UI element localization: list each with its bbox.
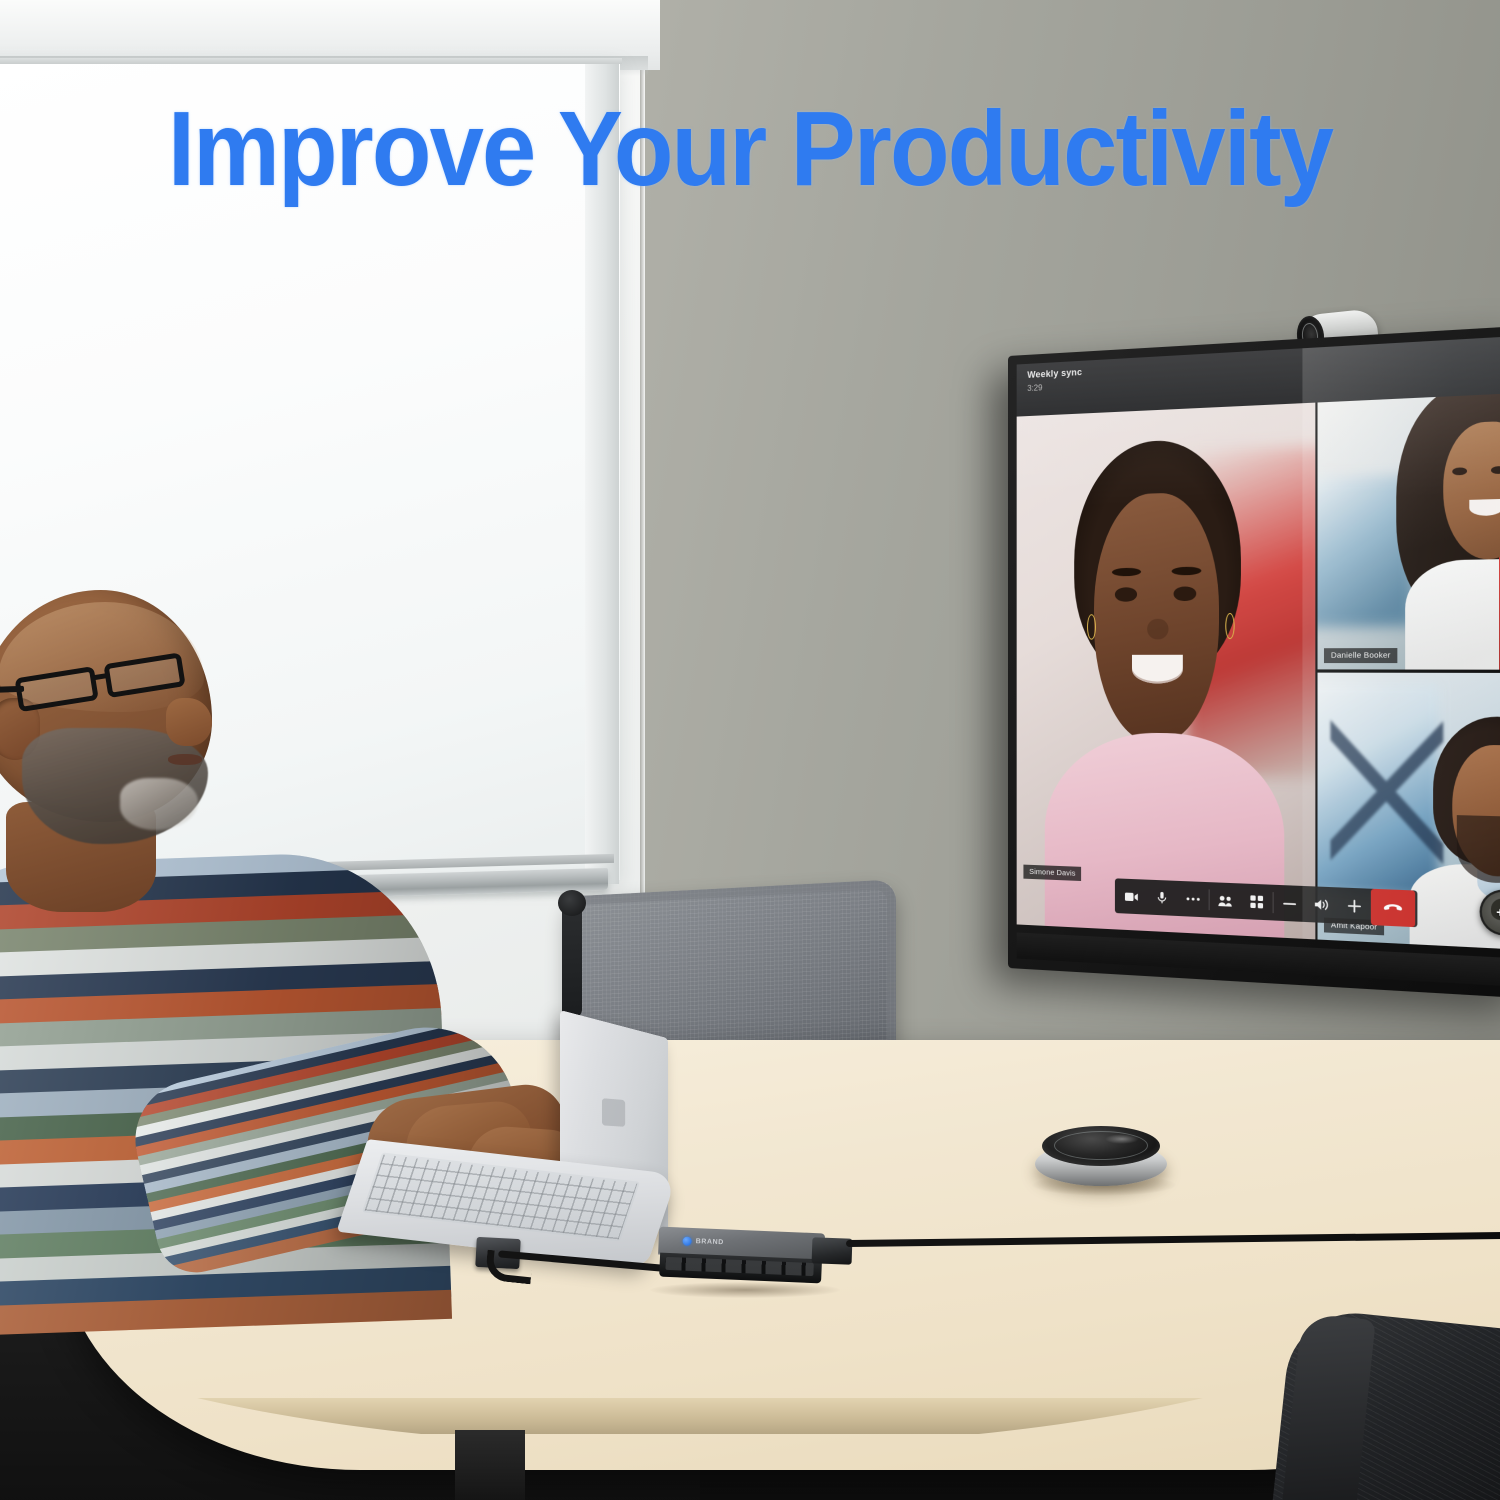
- person-lips: [168, 754, 202, 765]
- hub-brand-text: BRAND: [695, 1237, 724, 1247]
- beard-highlight: [120, 778, 198, 830]
- chair-adjust-knob: [558, 890, 586, 916]
- grid-layout-icon[interactable]: [1240, 883, 1272, 920]
- laptop-logo: [602, 1098, 625, 1127]
- table-leg: [455, 1430, 525, 1500]
- whiteboard-frame: [0, 58, 622, 64]
- people-icon[interactable]: [1209, 882, 1240, 919]
- participant-stage: Simone Davis Danie: [1017, 393, 1500, 951]
- speaker-nose: [1147, 619, 1168, 640]
- usb-hub-adapter: BRAND: [657, 1227, 825, 1290]
- speaker-eye-right: [1174, 587, 1197, 601]
- participant-tile[interactable]: Danielle Booker: [1316, 393, 1500, 673]
- thumb1-smile: [1469, 499, 1500, 516]
- plus-icon[interactable]: [1338, 887, 1371, 925]
- display-screen[interactable]: Weekly sync 3:29: [1017, 335, 1500, 950]
- video-camera-icon[interactable]: [1116, 878, 1146, 914]
- ellipsis-icon[interactable]: [1177, 881, 1208, 918]
- speakerphone-gleam: [1105, 1134, 1139, 1144]
- speaker-earring-left: [1087, 614, 1096, 640]
- minus-icon[interactable]: [1273, 885, 1305, 922]
- phone-hangup-icon[interactable]: [1370, 889, 1414, 927]
- overflow-count: +2: [1496, 905, 1500, 921]
- thumb2-window-frame: [1330, 705, 1443, 875]
- page-title: Improve Your Productivity: [60, 96, 1440, 202]
- wall-display: Weekly sync 3:29: [1008, 325, 1500, 999]
- speaker-icon[interactable]: [1305, 886, 1337, 923]
- active-speaker-tile[interactable]: Simone Davis: [1017, 403, 1316, 940]
- thumb1-eye-right: [1491, 465, 1500, 474]
- person-nose: [166, 698, 212, 746]
- participant-name-label: Danielle Booker: [1324, 648, 1397, 663]
- scene-root: Weekly sync 3:29: [0, 0, 1500, 1500]
- thumb1-torso: [1405, 558, 1500, 673]
- participant-name-label: Simone Davis: [1023, 864, 1081, 881]
- brand-logo-icon: [682, 1237, 691, 1246]
- conference-speakerphone[interactable]: [1035, 1124, 1167, 1188]
- speaker-eye-left: [1115, 588, 1137, 602]
- participant-thumbnail-column: Danielle Booker Amit Kapoor: [1316, 393, 1500, 951]
- display-bezel: Weekly sync 3:29: [1008, 325, 1500, 999]
- microphone-icon[interactable]: [1147, 880, 1178, 916]
